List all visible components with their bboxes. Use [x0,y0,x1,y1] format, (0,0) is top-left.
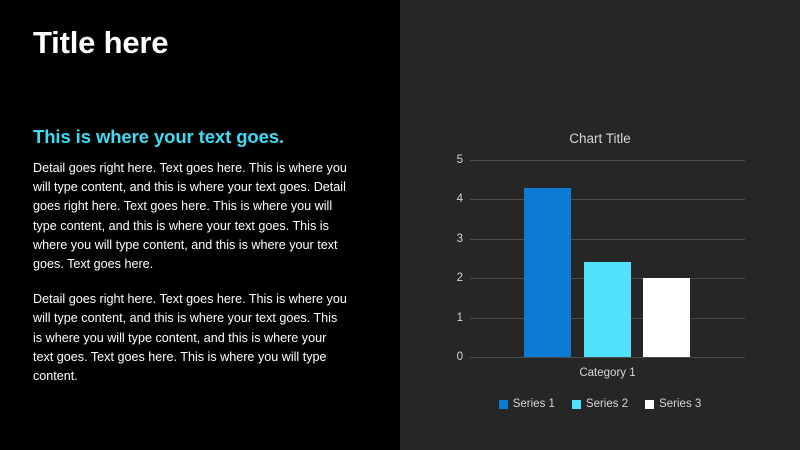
y-axis-tick-4: 4 [423,193,463,205]
legend-item-series-1[interactable]: Series 1 [499,398,555,410]
gridline-3 [470,239,745,240]
legend-swatch-icon [572,400,581,409]
gridline-0 [470,357,745,358]
legend-label: Series 2 [586,398,628,410]
chart-plot-area: 5 4 3 2 1 0 [470,160,745,357]
legend-label: Series 1 [513,398,555,410]
slide-text-panel: Title here This is where your text goes.… [0,0,400,450]
body-heading: This is where your text goes. [33,126,284,148]
chart-legend: Series 1 Series 2 Series 3 [400,398,800,410]
slide-chart-panel: Chart Title 5 4 3 2 1 0 [400,0,800,450]
legend-label: Series 3 [659,398,701,410]
y-axis-tick-2: 2 [423,272,463,284]
y-axis-tick-5: 5 [423,154,463,166]
gridline-4 [470,199,745,200]
page-title: Title here [33,26,168,60]
legend-swatch-icon [645,400,654,409]
y-axis-tick-1: 1 [423,312,463,324]
bar-chart[interactable]: Chart Title 5 4 3 2 1 0 [400,0,800,450]
bar-series-1[interactable] [524,188,571,357]
x-axis-category-label: Category 1 [470,367,745,379]
legend-swatch-icon [499,400,508,409]
bar-series-2[interactable] [584,262,631,357]
presentation-slide: Title here This is where your text goes.… [0,0,800,450]
body-paragraph: Detail goes right here. Text goes here. … [33,290,348,386]
gridline-5 [470,160,745,161]
legend-item-series-2[interactable]: Series 2 [572,398,628,410]
legend-item-series-3[interactable]: Series 3 [645,398,701,410]
body-paragraph: Detail goes right here. Text goes here. … [33,159,348,274]
y-axis-tick-3: 3 [423,233,463,245]
body-copy: Detail goes right here. Text goes here. … [33,159,348,386]
y-axis-tick-0: 0 [423,351,463,363]
bar-series-3[interactable] [643,278,690,357]
chart-title: Chart Title [400,131,800,146]
